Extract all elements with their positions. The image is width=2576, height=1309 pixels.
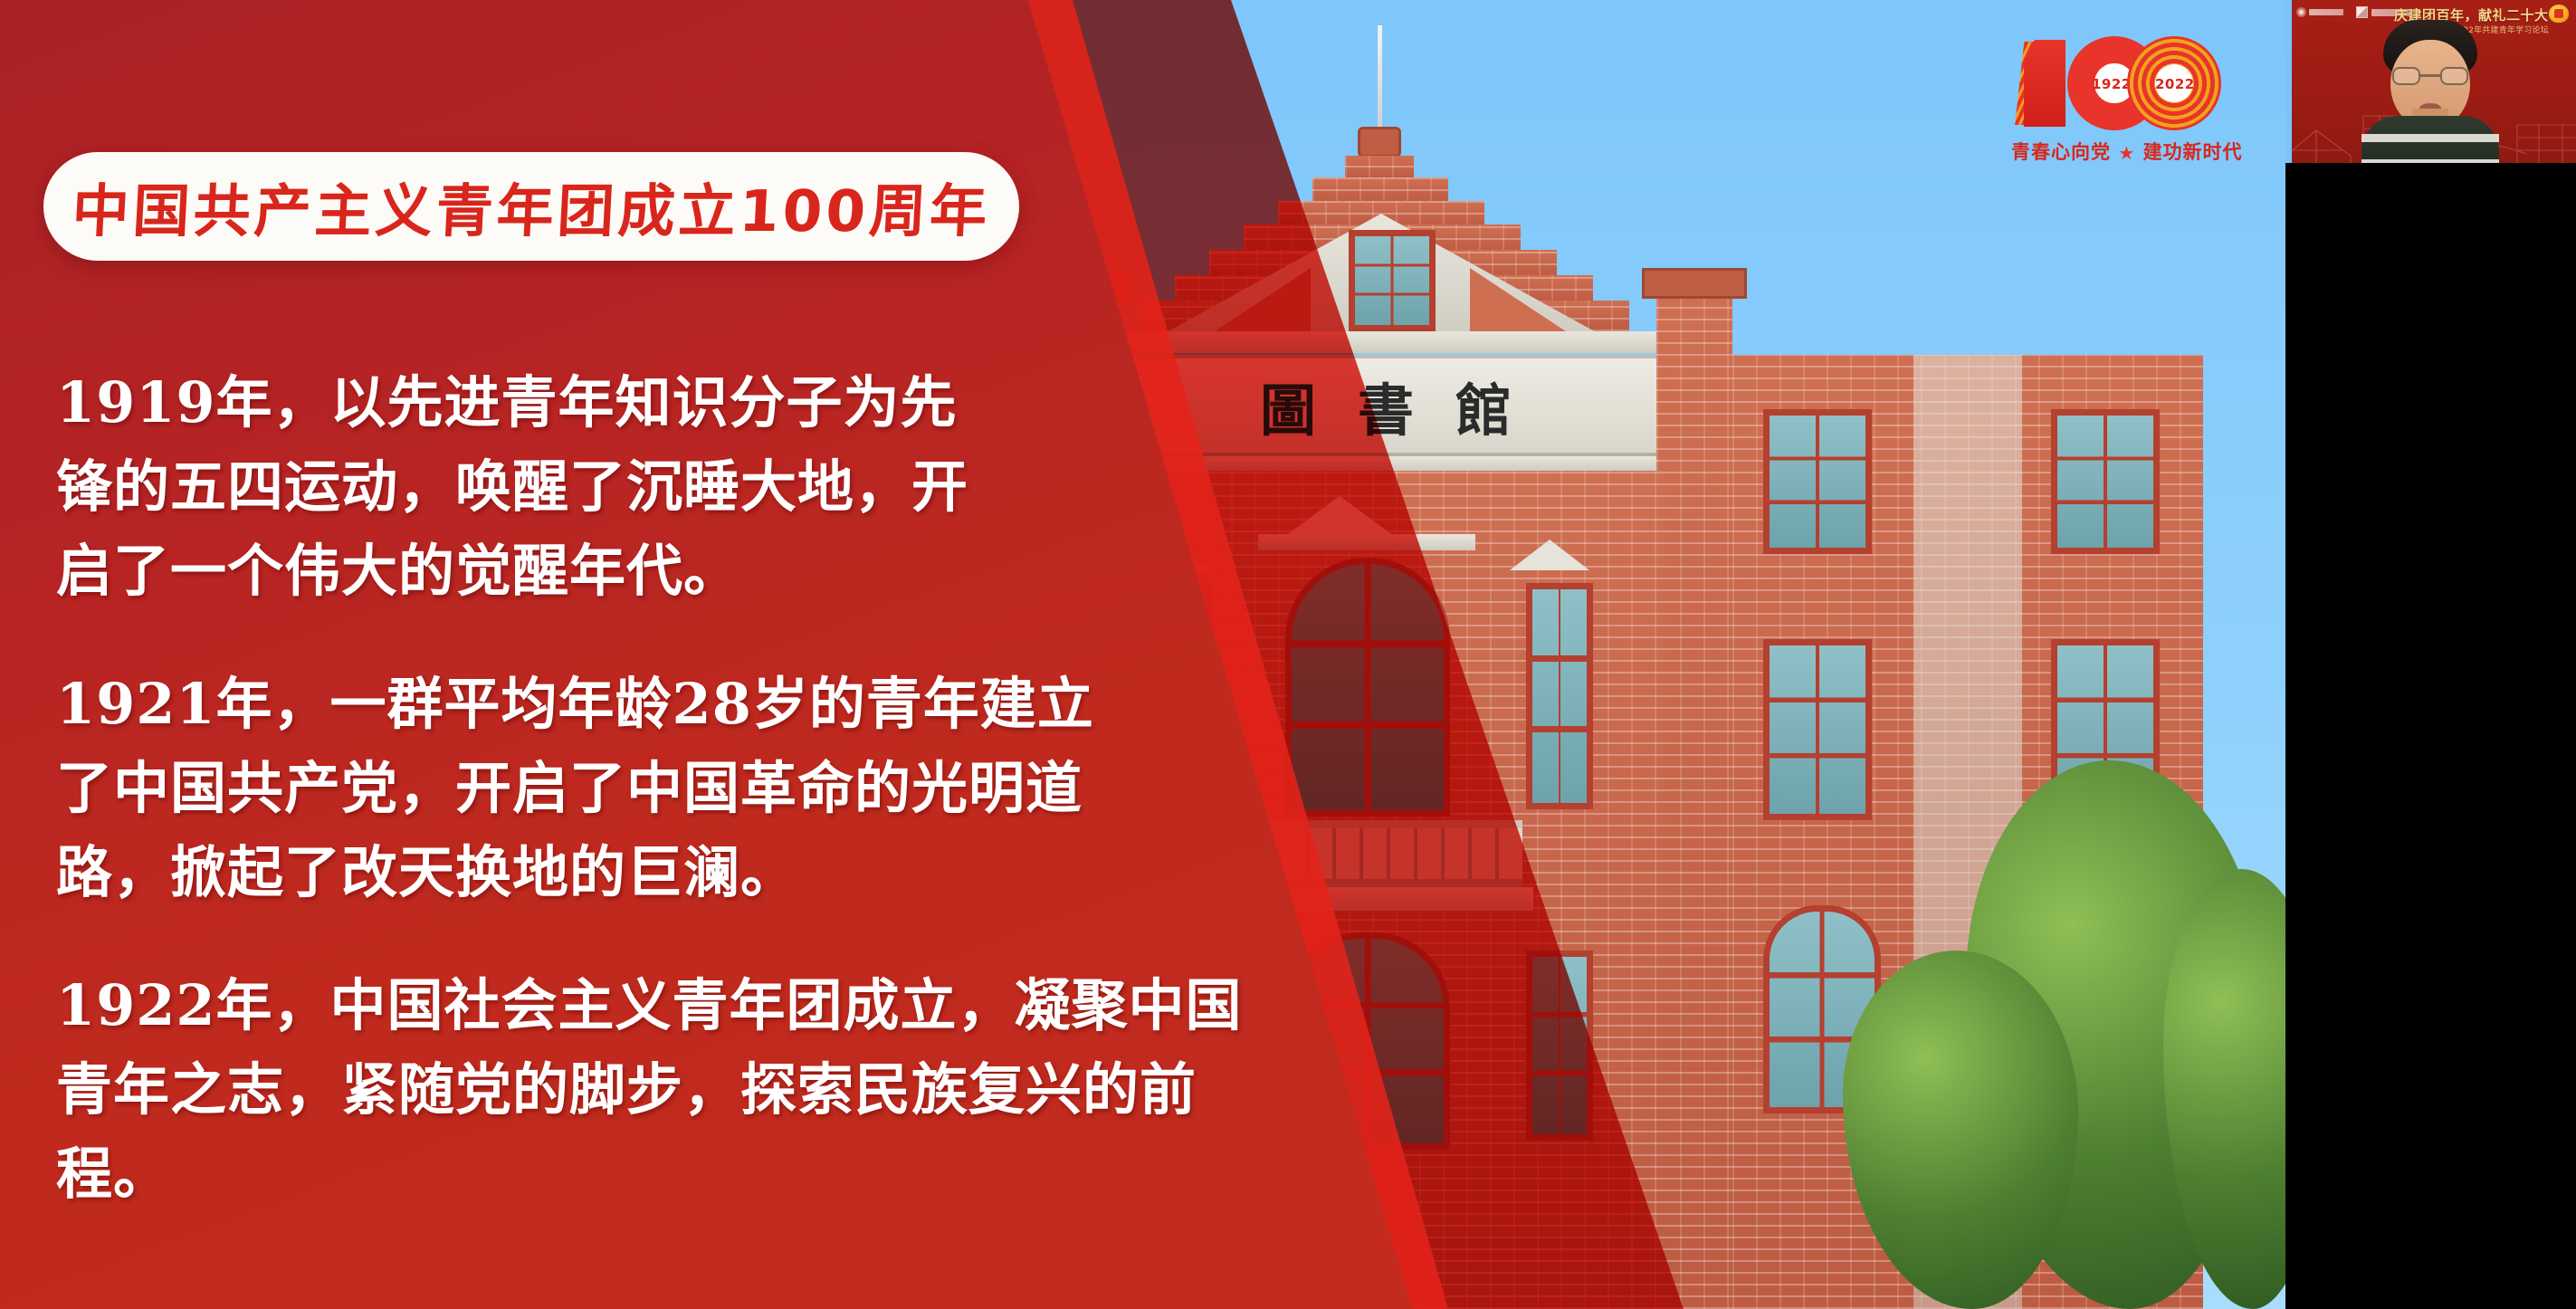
participant-avatar bbox=[2361, 20, 2499, 163]
participant-video-tile[interactable]: 庆建团百年，献礼二十大 ——2022年共建青年学习论坛 bbox=[2285, 0, 2576, 163]
paragraph-1922: 1922年，中国社会主义青年团成立，凝聚中国 青年之志，紧随党的脚步，探索民族复… bbox=[56, 963, 1251, 1216]
logo-digit-one bbox=[2024, 40, 2066, 127]
slide-title-pill: 中国共产主义青年团成立100周年 bbox=[43, 152, 1019, 261]
slide-body-text: 1919年，以先进青年知识分子为先 锋的五四运动，唤醒了沉睡大地，开 启了一个伟… bbox=[56, 360, 1251, 1216]
right-pier-cap bbox=[1642, 268, 1747, 299]
logo-slogan-left: 青春心向党 bbox=[2011, 141, 2111, 163]
plaque-char-3: 館 bbox=[1455, 365, 1513, 446]
anniversary-logo: 1922 2022 青春心向党 ★ 建功新时代 bbox=[2011, 14, 2221, 177]
logo-number-100: 1922 2022 bbox=[2011, 20, 2221, 136]
logo-slogan-right: 建功新时代 bbox=[2143, 141, 2243, 163]
spire-base bbox=[1358, 127, 1401, 158]
paragraph-1921: 1921年，一群平均年龄28岁的青年建立 了中国共产党，开启了中国革命的光明道 … bbox=[56, 662, 1251, 914]
institute-mark-icon bbox=[2356, 6, 2368, 18]
right-pier bbox=[1656, 295, 1732, 1309]
gable-window bbox=[1349, 230, 1436, 331]
right-wing-window-2 bbox=[2051, 409, 2160, 554]
logo-year-end: 2022 bbox=[2155, 76, 2195, 92]
glasses-icon bbox=[2392, 67, 2468, 85]
page-title: 中国共产主义青年团成立100周年 bbox=[70, 166, 992, 248]
logo-slogan: 青春心向党 ★ 建功新时代 bbox=[2011, 138, 2221, 165]
paragraph-1919: 1919年，以先进青年知识分子为先 锋的五四运动，唤醒了沉睡大地，开 启了一个伟… bbox=[56, 360, 1251, 613]
gable-step-2 bbox=[1312, 177, 1448, 203]
logo-year-start: 1922 bbox=[2092, 76, 2132, 92]
university-seal-icon bbox=[2296, 7, 2306, 17]
right-wing-window-3 bbox=[1763, 639, 1872, 820]
university-wordmark-1 bbox=[2309, 9, 2343, 15]
right-pediment bbox=[1510, 540, 1589, 570]
right-wing-window-1 bbox=[1763, 409, 1872, 554]
avatar-torso bbox=[2361, 116, 2499, 163]
gable-step-1 bbox=[1345, 156, 1414, 179]
screen: 圖 書 館 bbox=[0, 0, 2576, 1309]
presentation-slide: 圖 書 館 bbox=[0, 0, 2285, 1309]
star-icon: ★ bbox=[2118, 142, 2135, 164]
video-conference-panel[interactable]: 庆建团百年，献礼二十大 ——2022年共建青年学习论坛 bbox=[2285, 0, 2576, 1309]
university-logo-1 bbox=[2296, 6, 2343, 18]
anniversary-badge-icon bbox=[2549, 5, 2569, 23]
logo-digit-zero-second: 2022 bbox=[2127, 36, 2221, 130]
video-panel-empty-area bbox=[2285, 163, 2576, 1309]
roof-spire bbox=[1378, 25, 1382, 132]
right-window-upper bbox=[1526, 583, 1593, 809]
video-left-edge-strip bbox=[2285, 0, 2292, 163]
